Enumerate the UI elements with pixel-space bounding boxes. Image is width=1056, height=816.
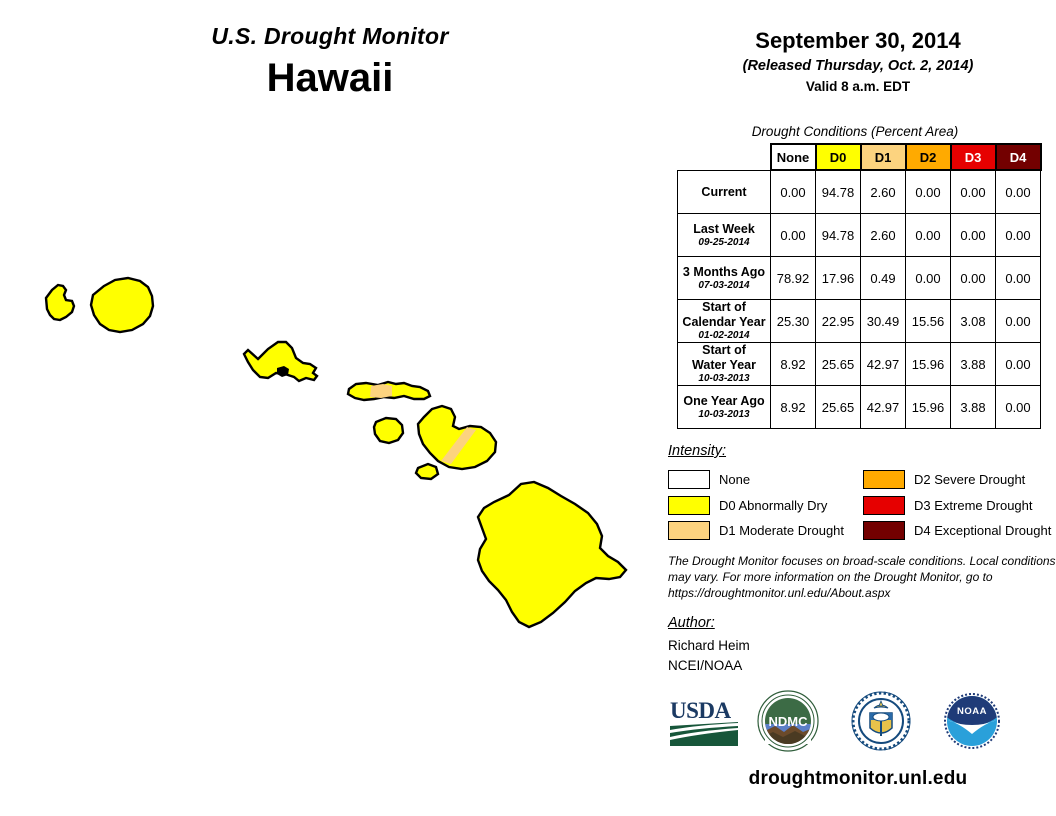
table-cell-none: 25.30	[771, 300, 816, 343]
intensity-title: Intensity:	[668, 443, 726, 459]
table-cell-d0: 22.95	[816, 300, 861, 343]
table-header-row: None D0 D1 D2 D3 D4	[678, 144, 1041, 170]
legend-item-none: None	[668, 470, 750, 489]
legend-swatch-d2	[863, 470, 905, 489]
legend-label-d4: D4 Exceptional Drought	[914, 523, 1051, 538]
row-label: One Year Ago10-03-2013	[678, 386, 771, 429]
column-header-d4: D4	[996, 144, 1041, 170]
row-sub-date: 01-02-2014	[680, 330, 768, 342]
disclaimer-text: The Drought Monitor focuses on broad-sca…	[668, 553, 1056, 602]
island-kahoolawe	[416, 464, 438, 479]
table-cell-d0: 17.96	[816, 257, 861, 300]
table-cell-d2: 15.96	[906, 386, 951, 429]
table-cell-none: 0.00	[771, 214, 816, 257]
table-cell-none: 78.92	[771, 257, 816, 300]
table-cell-none: 8.92	[771, 386, 816, 429]
table-cell-d3: 3.88	[951, 343, 996, 386]
island-kauai	[91, 278, 153, 332]
table-cell-d4: 0.00	[996, 343, 1041, 386]
usda-logo: USDA	[668, 696, 740, 748]
table-cell-d0: 25.65	[816, 343, 861, 386]
release-date: (Released Thursday, Oct. 2, 2014)	[660, 58, 1056, 74]
table-cell-d2: 15.96	[906, 343, 951, 386]
table-row: 3 Months Ago07-03-201478.9217.960.490.00…	[678, 257, 1041, 300]
legend-item-d3: D3 Extreme Drought	[863, 496, 1033, 515]
author-block: Richard Heim NCEI/NOAA	[668, 636, 750, 675]
footer-url: droughtmonitor.unl.edu	[660, 768, 1056, 790]
column-header-d3: D3	[951, 144, 996, 170]
table-cell-d1: 42.97	[861, 386, 906, 429]
page-title: U.S. Drought Monitor	[0, 24, 660, 49]
ndmc-logo: NDMC	[757, 690, 819, 752]
right-panel: September 30, 2014 (Released Thursday, O…	[660, 0, 1056, 816]
table-cell-d3: 3.88	[951, 386, 996, 429]
logo-row: USDA NDMC	[660, 688, 1056, 768]
table-row: Start ofCalendar Year01-02-201425.3022.9…	[678, 300, 1041, 343]
legend-swatch-d0	[668, 496, 710, 515]
row-label: Current	[678, 170, 771, 214]
row-label: Last Week09-25-2014	[678, 214, 771, 257]
legend-swatch-d3	[863, 496, 905, 515]
table-cell-d3: 0.00	[951, 214, 996, 257]
table-cell-d0: 25.65	[816, 386, 861, 429]
molokai-d1-band	[370, 384, 392, 398]
legend-label-d2: D2 Severe Drought	[914, 472, 1025, 487]
table-cell-d1: 42.97	[861, 343, 906, 386]
table-cell-d2: 15.56	[906, 300, 951, 343]
legend-item-d0: D0 Abnormally Dry	[668, 496, 827, 515]
legend-label-d1: D1 Moderate Drought	[719, 523, 844, 538]
table-cell-d4: 0.00	[996, 170, 1041, 214]
island-maui	[418, 406, 496, 469]
table-cell-d0: 94.78	[816, 214, 861, 257]
legend-label-d0: D0 Abnormally Dry	[719, 498, 827, 513]
table-row: Current0.0094.782.600.000.000.00	[678, 170, 1041, 214]
table-row: One Year Ago10-03-20138.9225.6542.9715.9…	[678, 386, 1041, 429]
table-cell-d2: 0.00	[906, 214, 951, 257]
table-cell-d2: 0.00	[906, 170, 951, 214]
legend-swatch-d4	[863, 521, 905, 540]
table-cell-d1: 0.49	[861, 257, 906, 300]
table-caption: Drought Conditions (Percent Area)	[660, 124, 1050, 139]
title-block: U.S. Drought Monitor Hawaii	[0, 24, 660, 101]
row-sub-date: 07-03-2014	[680, 280, 768, 292]
row-label: Start ofWater Year10-03-2013	[678, 343, 771, 386]
table-corner-cell	[678, 144, 771, 170]
table-cell-d0: 94.78	[816, 170, 861, 214]
row-label: Start ofCalendar Year01-02-2014	[678, 300, 771, 343]
legend-swatch-none	[668, 470, 710, 489]
department-of-commerce-seal	[850, 690, 912, 752]
table-cell-none: 0.00	[771, 170, 816, 214]
state-title: Hawaii	[0, 55, 660, 101]
legend-label-d3: D3 Extreme Drought	[914, 498, 1033, 513]
table-cell-d4: 0.00	[996, 300, 1041, 343]
island-niihau	[46, 285, 74, 320]
island-hawaii	[478, 482, 626, 627]
svg-text:USDA: USDA	[670, 698, 732, 723]
legend-label-none: None	[719, 472, 750, 487]
author-name: Richard Heim	[668, 636, 750, 656]
date-block: September 30, 2014 (Released Thursday, O…	[660, 28, 1056, 94]
report-date: September 30, 2014	[660, 28, 1056, 54]
row-sub-date: 10-03-2013	[680, 409, 768, 421]
drought-conditions-table: None D0 D1 D2 D3 D4 Current0.0094.782.60…	[677, 143, 1042, 429]
valid-time: Valid 8 a.m. EDT	[660, 79, 1056, 94]
table-cell-d2: 0.00	[906, 257, 951, 300]
row-sub-date: 09-25-2014	[680, 237, 768, 249]
legend-item-d4: D4 Exceptional Drought	[863, 521, 1051, 540]
column-header-d0: D0	[816, 144, 861, 170]
hawaii-map	[0, 130, 660, 810]
table-cell-d1: 2.60	[861, 214, 906, 257]
island-lanai	[374, 418, 403, 443]
table-cell-d3: 3.08	[951, 300, 996, 343]
table-cell-none: 8.92	[771, 343, 816, 386]
table-cell-d3: 0.00	[951, 257, 996, 300]
column-header-none: None	[771, 144, 816, 170]
legend-item-d1: D1 Moderate Drought	[668, 521, 844, 540]
row-label: 3 Months Ago07-03-2014	[678, 257, 771, 300]
table-cell-d4: 0.00	[996, 214, 1041, 257]
noaa-logo: NOAA	[941, 690, 1003, 752]
table-cell-d4: 0.00	[996, 386, 1041, 429]
table-cell-d3: 0.00	[951, 170, 996, 214]
table-row: Last Week09-25-20140.0094.782.600.000.00…	[678, 214, 1041, 257]
column-header-d1: D1	[861, 144, 906, 170]
author-affiliation: NCEI/NOAA	[668, 656, 750, 676]
row-sub-date: 10-03-2013	[680, 373, 768, 385]
table-row: Start ofWater Year10-03-20138.9225.6542.…	[678, 343, 1041, 386]
legend-swatch-d1	[668, 521, 710, 540]
svg-text:NOAA: NOAA	[957, 706, 987, 717]
column-header-d2: D2	[906, 144, 951, 170]
svg-text:NDMC: NDMC	[769, 714, 809, 729]
table-cell-d1: 30.49	[861, 300, 906, 343]
legend-item-d2: D2 Severe Drought	[863, 470, 1025, 489]
author-title: Author:	[668, 615, 715, 631]
table-cell-d4: 0.00	[996, 257, 1041, 300]
table-cell-d1: 2.60	[861, 170, 906, 214]
